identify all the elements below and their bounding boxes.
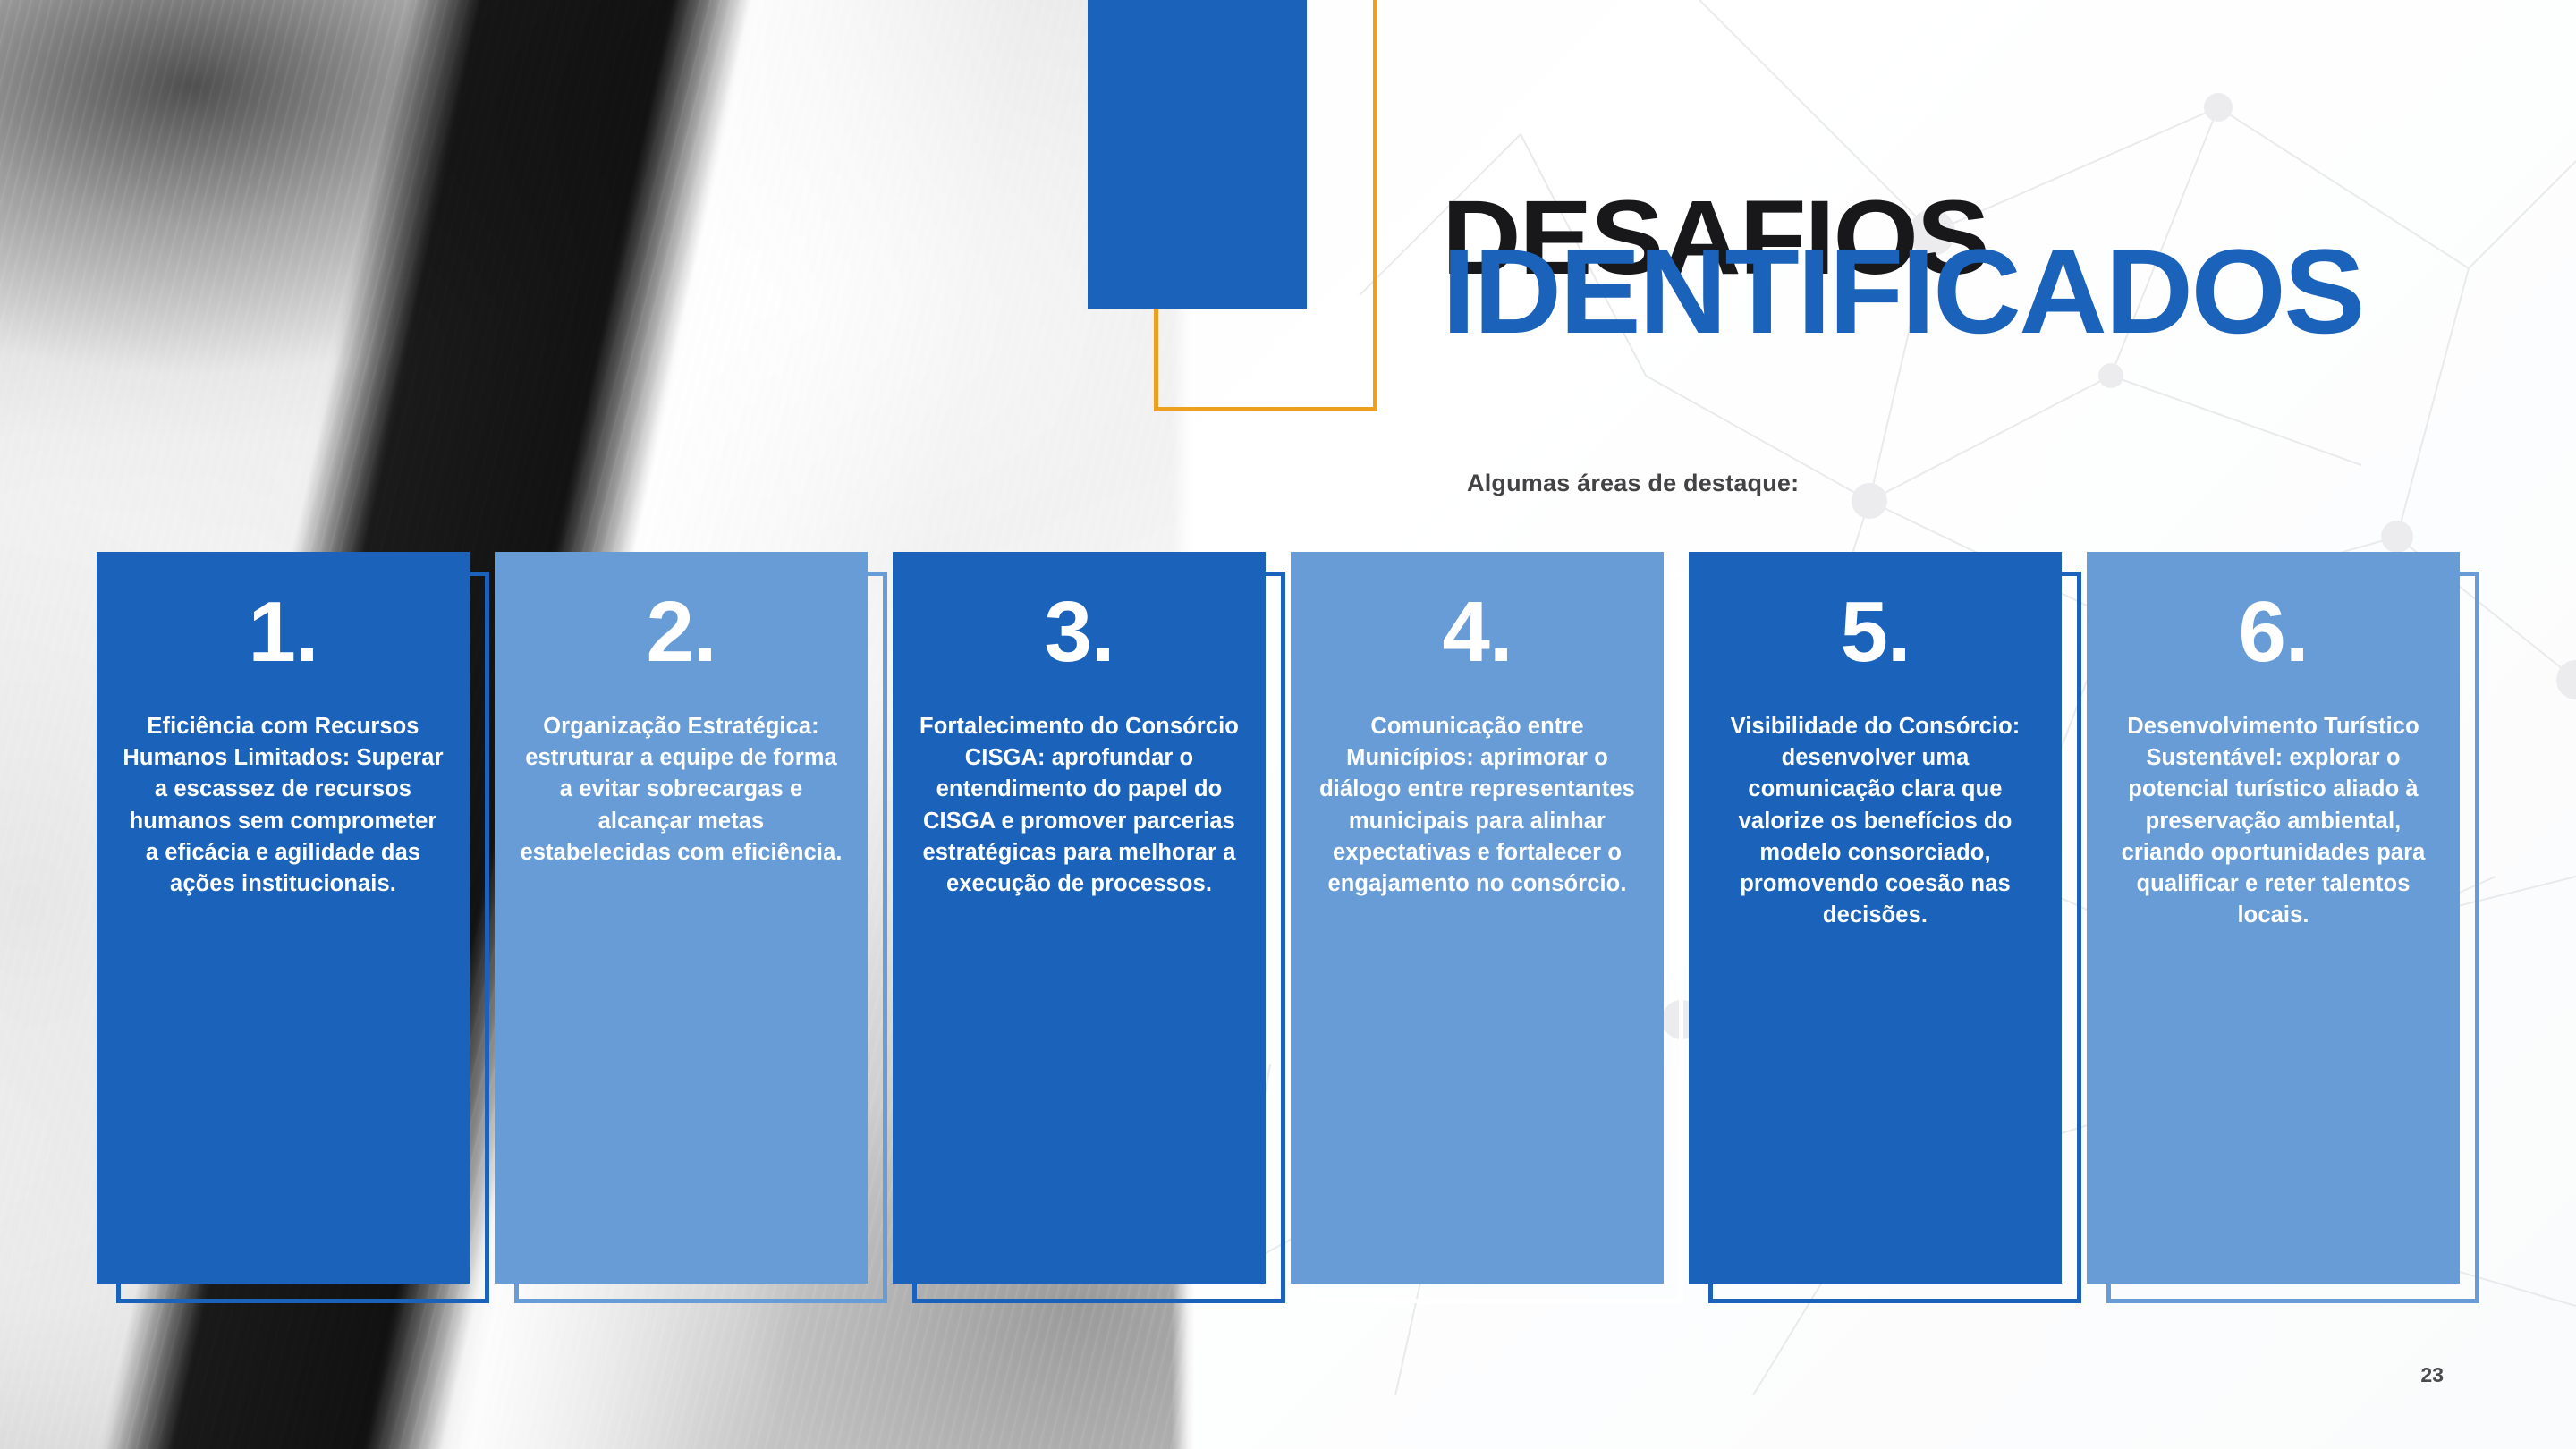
card-number-3: 3. — [912, 589, 1246, 675]
card-text-6: Desenvolvimento Turístico Sustentável: e… — [2106, 711, 2440, 931]
challenge-card-3[interactable]: 3. Fortalecimento do Consórcio CISGA: ap… — [893, 552, 1266, 1285]
card-number-5: 5. — [1708, 589, 2042, 675]
challenge-card-2[interactable]: 2. Organização Estratégica: estruturar a… — [495, 552, 868, 1285]
card-text-4: Comunicação entre Municípios: aprimorar … — [1310, 711, 1644, 900]
challenge-card-4[interactable]: 4. Comunicação entre Municípios: aprimor… — [1291, 552, 1664, 1285]
card-number-6: 6. — [2106, 589, 2440, 675]
presentation-slide: DESAFIOS IDENTIFICADOS Algumas áreas de … — [0, 0, 2576, 1449]
card-body-3: 3. Fortalecimento do Consórcio CISGA: ap… — [893, 552, 1266, 1284]
subtitle-text: Algumas áreas de destaque: — [1467, 470, 1799, 497]
challenge-card-1[interactable]: 1. Eficiência com Recursos Humanos Limit… — [97, 552, 470, 1285]
card-text-1: Eficiência com Recursos Humanos Limitado… — [116, 711, 450, 900]
challenge-card-6[interactable]: 6. Desenvolvimento Turístico Sustentável… — [2087, 552, 2460, 1285]
card-body-5: 5. Visibilidade do Consórcio: desenvolve… — [1689, 552, 2062, 1284]
challenge-cards-row: 1. Eficiência com Recursos Humanos Limit… — [0, 552, 2576, 1303]
challenge-card-5[interactable]: 5. Visibilidade do Consórcio: desenvolve… — [1689, 552, 2062, 1285]
card-number-1: 1. — [116, 589, 450, 675]
title-line-identificados: IDENTIFICADOS — [1442, 244, 2537, 340]
card-number-4: 4. — [1310, 589, 1644, 675]
page-title: DESAFIOS IDENTIFICADOS — [1442, 195, 2515, 340]
page-number: 23 — [2420, 1363, 2444, 1387]
card-body-4: 4. Comunicação entre Municípios: aprimor… — [1291, 552, 1664, 1284]
card-body-2: 2. Organização Estratégica: estruturar a… — [495, 552, 868, 1284]
card-text-2: Organização Estratégica: estruturar a eq… — [514, 711, 848, 869]
card-body-1: 1. Eficiência com Recursos Humanos Limit… — [97, 552, 470, 1284]
card-text-5: Visibilidade do Consórcio: desenvolver u… — [1708, 711, 2042, 931]
card-number-2: 2. — [514, 589, 848, 675]
card-body-6: 6. Desenvolvimento Turístico Sustentável… — [2087, 552, 2460, 1284]
card-text-3: Fortalecimento do Consórcio CISGA: aprof… — [912, 711, 1246, 900]
blue-filled-rectangle-decoration — [1088, 0, 1307, 309]
